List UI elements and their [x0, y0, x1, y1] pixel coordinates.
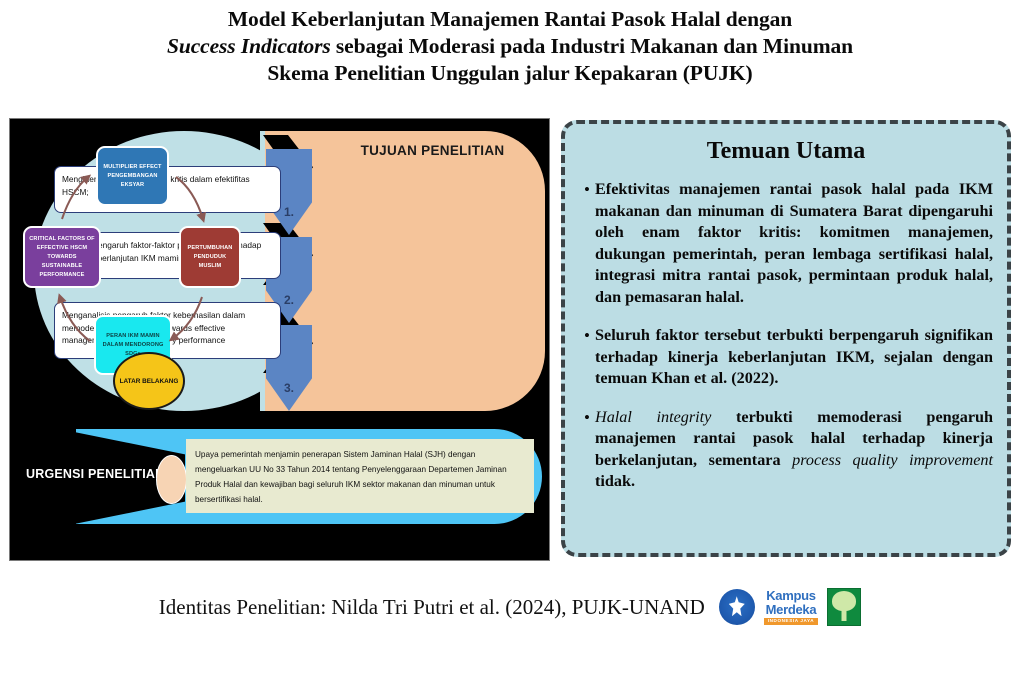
title-line-2: Success Indicators sebagai Moderasi pada…: [0, 33, 1020, 60]
title-line-2-rest: sebagai Moderasi pada Industri Makanan d…: [331, 34, 853, 58]
urgency-accent-ellipse: [156, 455, 187, 504]
kampus-merdeka-mid: Merdeka: [766, 603, 817, 616]
title-line-1: Model Keberlanjutan Manajemen Rantai Pas…: [0, 6, 1020, 33]
kampus-merdeka-icon: Kampus Merdeka INDONESIA JAYA: [764, 589, 818, 625]
page-title: Model Keberlanjutan Manajemen Rantai Pas…: [0, 0, 1020, 87]
finding-3-bold-2: tidak.: [595, 472, 635, 490]
main-content: TUJUAN PENELITIAN 1. 2. 3. Mengidentifik…: [0, 118, 1020, 563]
kampus-merdeka-bar: INDONESIA JAYA: [764, 618, 818, 625]
finding-item: • Efektivitas manajemen rantai pasok hal…: [579, 179, 993, 308]
footer-identity-text: Identitas Penelitian: Nilda Tri Putri et…: [159, 595, 705, 620]
urgency-text-box: Upaya pemerintah menjamin penerapan Sist…: [186, 439, 534, 513]
finding-3-italic-1: Halal integrity: [595, 408, 711, 426]
finding-text-3: Halal integrity terbukti memoderasi peng…: [595, 407, 993, 493]
findings-panel: Temuan Utama • Efektivitas manajemen ran…: [561, 120, 1011, 557]
footer: Identitas Penelitian: Nilda Tri Putri et…: [0, 578, 1020, 636]
unand-tree-icon: [827, 588, 861, 626]
finding-item: • Seluruh faktor tersebut terbukti berpe…: [579, 325, 993, 390]
tutwuri-handayani-icon: [719, 589, 755, 625]
research-diagram-panel: TUJUAN PENELITIAN 1. 2. 3. Mengidentifik…: [9, 118, 550, 561]
finding-item: • Halal integrity terbukti memoderasi pe…: [579, 407, 993, 493]
title-italic-term: Success Indicators: [167, 34, 331, 58]
urgency-label: URGENSI PENELITIAN: [26, 467, 166, 481]
finding-3-italic-2: process quality improvement: [792, 451, 993, 469]
bullet-icon: •: [579, 325, 595, 390]
bullet-icon: •: [579, 179, 595, 308]
finding-text-2: Seluruh faktor tersebut terbukti berpeng…: [595, 325, 993, 390]
objectives-header: TUJUAN PENELITIAN: [325, 143, 540, 158]
bullet-icon: •: [579, 407, 595, 493]
findings-title: Temuan Utama: [579, 138, 993, 165]
cycle-arrows: [10, 119, 290, 409]
finding-text-1: Efektivitas manajemen rantai pasok halal…: [595, 179, 993, 308]
title-line-3: Skema Penelitian Unggulan jalur Kepakara…: [0, 60, 1020, 87]
footer-logos: Kampus Merdeka INDONESIA JAYA: [719, 588, 861, 626]
kampus-merdeka-top: Kampus: [766, 589, 816, 602]
